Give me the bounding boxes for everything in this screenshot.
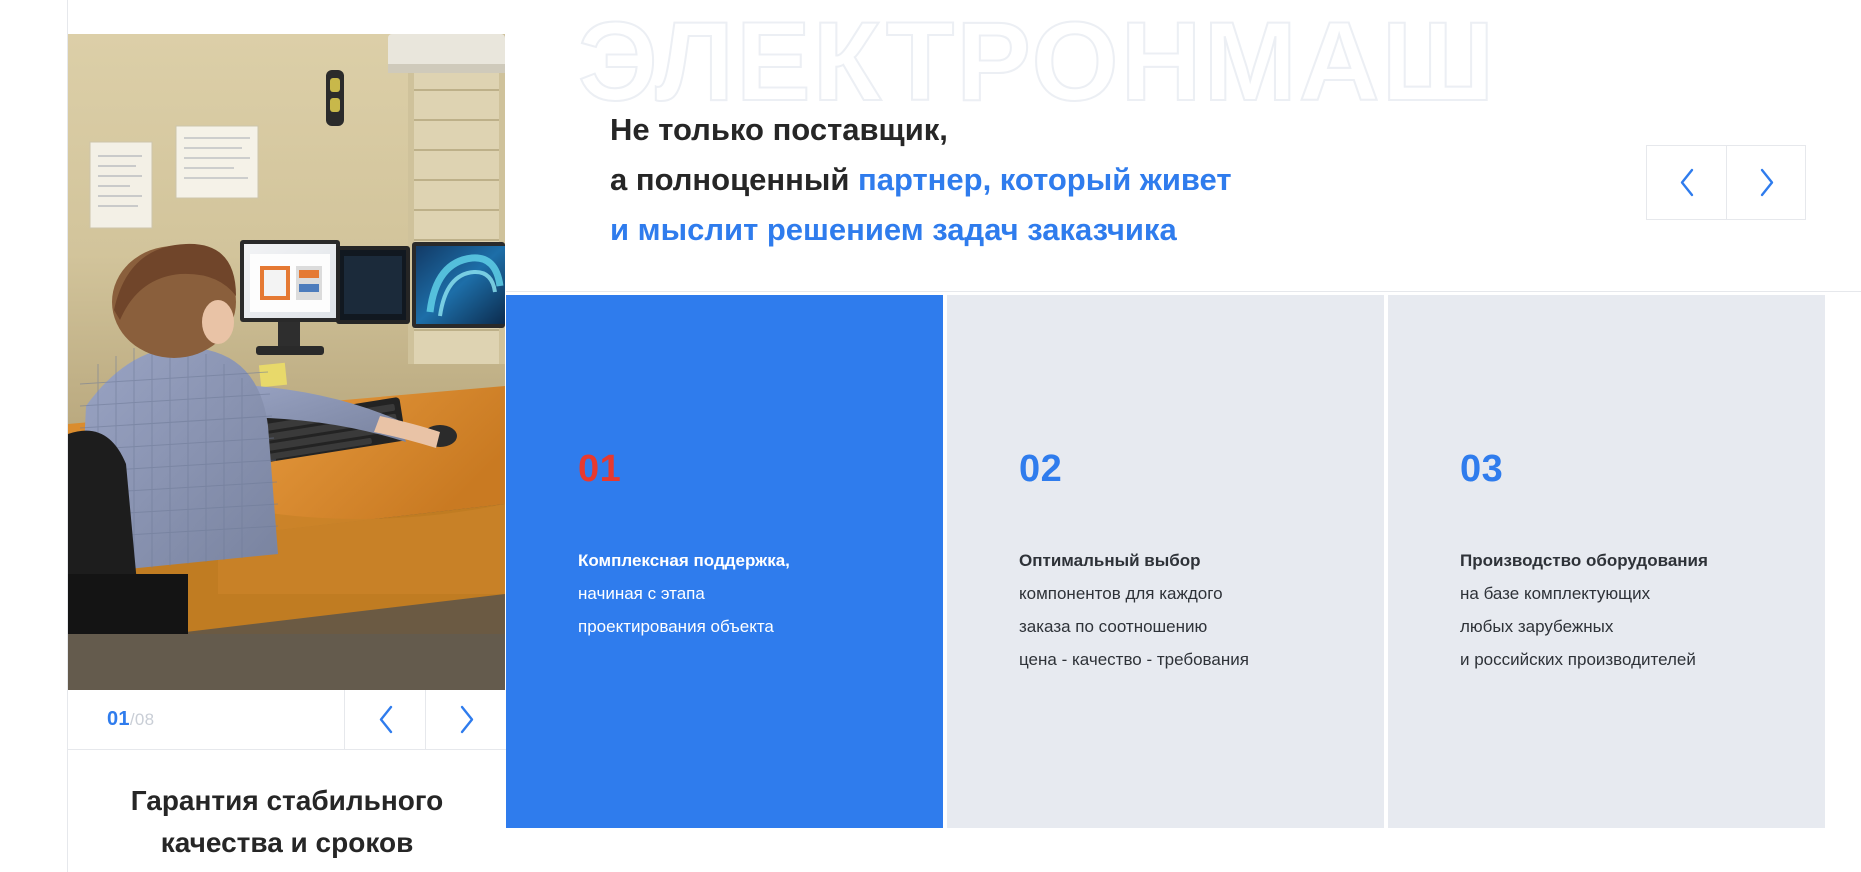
- hero-line-2-plain: а полноценный: [610, 162, 858, 197]
- chevron-left-icon: [376, 704, 395, 735]
- photo-slider-pager: 01/08: [68, 690, 506, 750]
- chevron-right-icon: [457, 704, 476, 735]
- hero-prev-button[interactable]: [1647, 146, 1726, 219]
- advantage-card-1-body: Комплексная поддержка, начиная с этапа п…: [578, 544, 943, 643]
- hero-underline: [506, 291, 1861, 292]
- hero-line-3-accent: и мыслит решением задач заказчика: [610, 212, 1177, 247]
- hero-next-button[interactable]: [1726, 146, 1805, 219]
- chevron-left-icon: [1677, 167, 1696, 198]
- advantages-cards: 01 Комплексная поддержка, начиная с этап…: [506, 295, 1861, 828]
- slide-counter-total: /08: [130, 710, 155, 730]
- hero-line-2-accent: партнер, который живет: [858, 162, 1232, 197]
- advantage-card-3-body: Производство оборудования на базе компле…: [1460, 544, 1825, 676]
- photo-next-button[interactable]: [425, 690, 506, 749]
- advantage-card-2-number: 02: [1019, 450, 1384, 488]
- advantage-card-3-number: 03: [1460, 450, 1825, 488]
- advantage-card-2-line-4: цена - качество - требования: [1019, 650, 1249, 669]
- bottom-title-line-1: Гарантия стабильного: [131, 785, 443, 816]
- page-root: ЭЛЕКТРОНМАШ Не только поставщик, а полно…: [0, 0, 1861, 872]
- engineer-at-workstation-photo: [68, 34, 505, 690]
- hero-line-1: Не только поставщик,: [610, 112, 948, 147]
- advantage-card-3-line-4: и российских производителей: [1460, 650, 1696, 669]
- bottom-section-title: Гарантия стабильного качества и сроков: [68, 780, 506, 864]
- advantage-card-1-line-3: проектирования объекта: [578, 617, 774, 636]
- advantage-card-1-line-2: начиная с этапа: [578, 584, 705, 603]
- advantage-card-1-number: 01: [578, 450, 943, 488]
- advantage-card-2-line-3: заказа по соотношению: [1019, 617, 1207, 636]
- advantage-card-2[interactable]: 02 Оптимальный выбор компонентов для каж…: [947, 295, 1384, 828]
- advantage-card-2-line-2: компонентов для каждого: [1019, 584, 1223, 603]
- advantage-card-2-body: Оптимальный выбор компонентов для каждог…: [1019, 544, 1384, 676]
- advantage-card-1[interactable]: 01 Комплексная поддержка, начиная с этап…: [506, 295, 943, 828]
- advantage-card-3-line-3: любых зарубежных: [1460, 617, 1613, 636]
- hero-photo: [68, 34, 505, 690]
- chevron-right-icon: [1757, 167, 1776, 198]
- bottom-title-line-2: качества и сроков: [161, 827, 414, 858]
- hero-slider-nav: [1646, 145, 1806, 220]
- advantage-card-1-lead: Комплексная поддержка,: [578, 551, 790, 570]
- advantage-card-3-lead: Производство оборудования: [1460, 551, 1708, 570]
- advantage-card-3-line-2: на базе комплектующих: [1460, 584, 1650, 603]
- slide-counter: 01/08: [68, 690, 344, 749]
- advantage-card-3[interactable]: 03 Производство оборудования на базе ком…: [1388, 295, 1825, 828]
- hero-heading: Не только поставщик, а полноценный партн…: [610, 105, 1232, 255]
- photo-prev-button[interactable]: [344, 690, 425, 749]
- slide-counter-current: 01: [107, 708, 130, 731]
- advantage-card-2-lead: Оптимальный выбор: [1019, 551, 1201, 570]
